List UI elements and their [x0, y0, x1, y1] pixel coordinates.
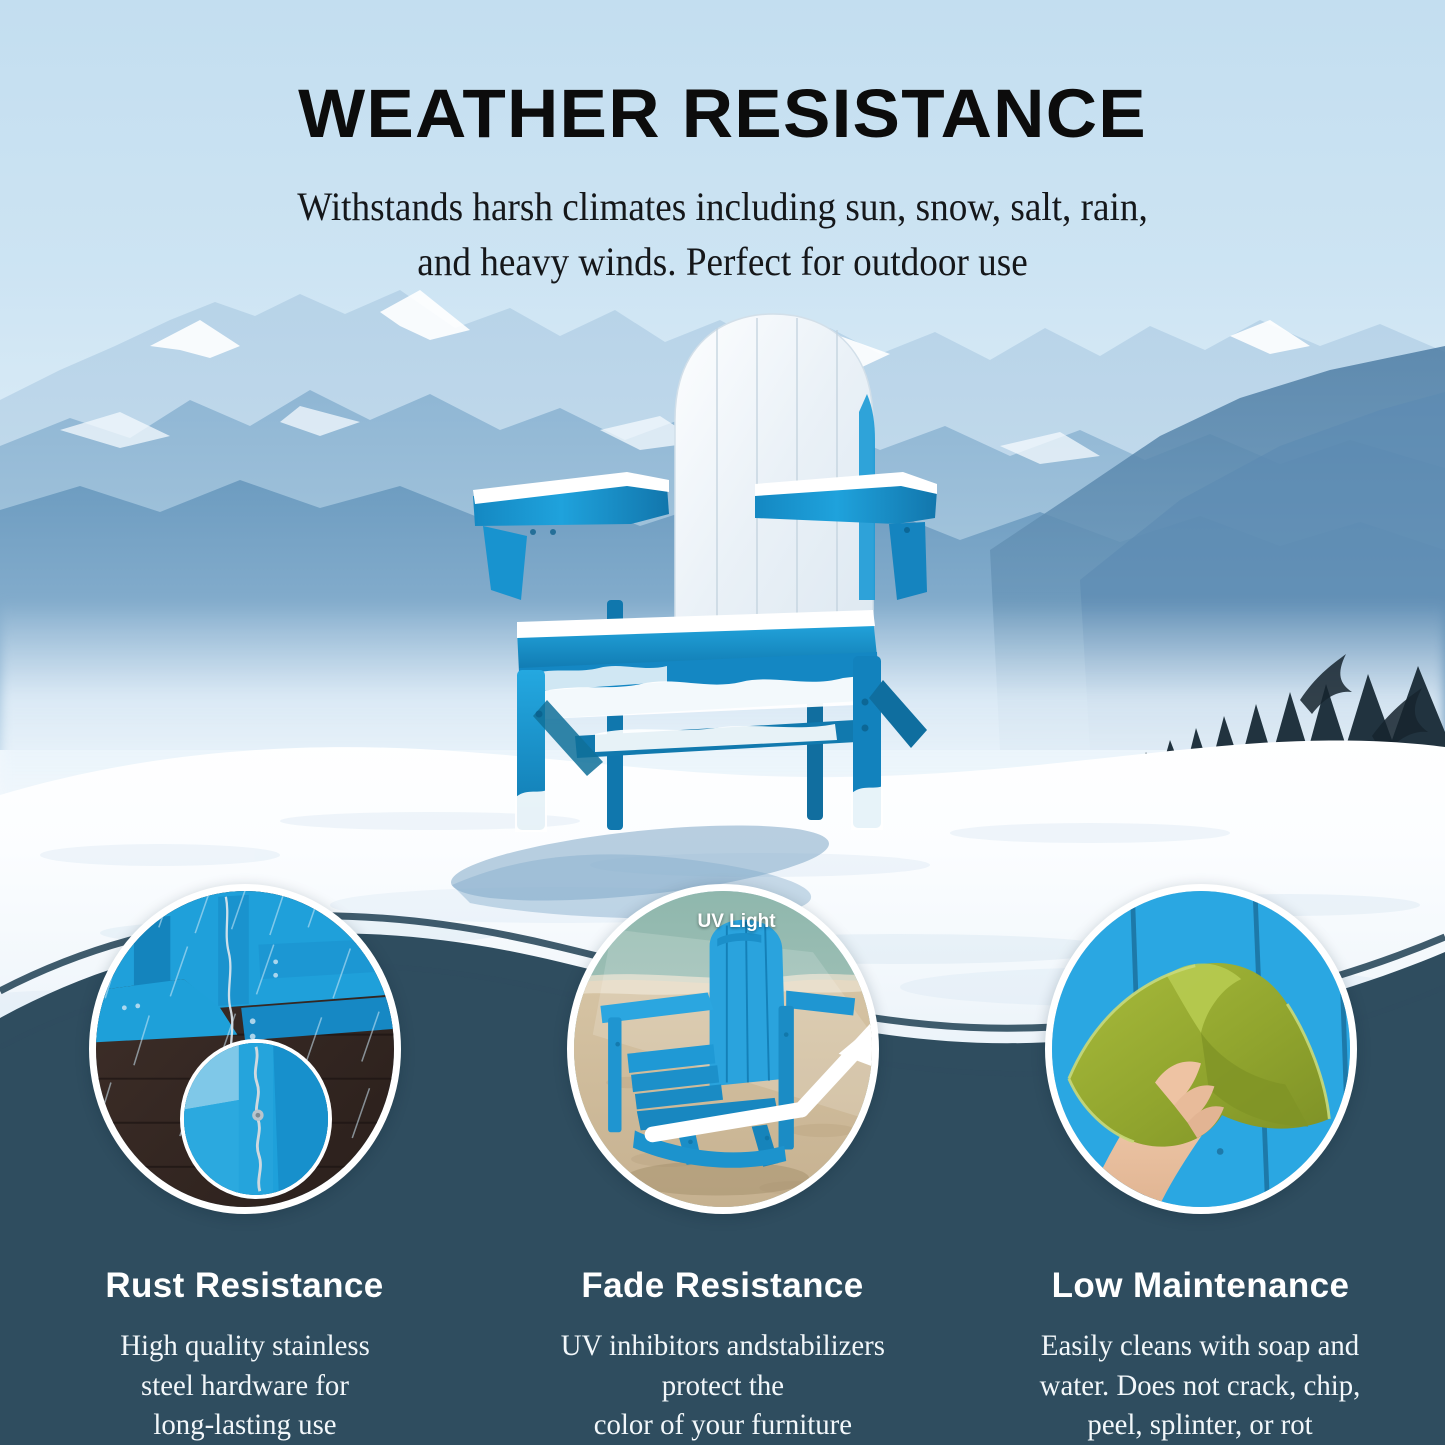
uv-light-label: UV Light	[698, 911, 776, 933]
low-maintenance-photo	[1045, 884, 1357, 1214]
card-desc-low-maintenance: Easily cleans with soap and water. Does …	[1040, 1326, 1361, 1445]
subtitle-line-1: Withstands harsh climates including sun,…	[51, 179, 1395, 234]
card-title-fade: Fade Resistance	[581, 1266, 863, 1306]
stainless-chain-inset	[180, 1039, 332, 1199]
subtitle-line-2: and heavy winds. Perfect for outdoor use	[51, 234, 1395, 289]
header-block: WEATHER RESISTANCE Withstands harsh clim…	[0, 0, 1445, 289]
card-title-rust: Rust Resistance	[105, 1266, 383, 1306]
page-title: WEATHER RESISTANCE	[0, 74, 1445, 153]
hero-chair-image	[455, 300, 955, 860]
feature-cards: Rust Resistance High quality stainless s…	[0, 884, 1445, 1445]
card-desc-fade: UV inhibitors andstabilizers protect the…	[560, 1326, 884, 1445]
page-subtitle: Withstands harsh climates including sun,…	[51, 179, 1395, 289]
fade-resistance-photo: UV Light	[567, 884, 879, 1214]
feature-card-fade-resistance[interactable]: UV Light Fade Resistance UV inhibitors a…	[503, 884, 943, 1445]
feature-card-rust-resistance[interactable]: Rust Resistance High quality stainless s…	[25, 884, 465, 1445]
card-desc-rust: High quality stainless steel hardware fo…	[120, 1326, 370, 1445]
rust-resistance-photo	[89, 884, 401, 1214]
card-title-low-maintenance: Low Maintenance	[1052, 1266, 1350, 1306]
infographic-stage: WEATHER RESISTANCE Withstands harsh clim…	[0, 0, 1445, 1445]
feature-card-low-maintenance[interactable]: Low Maintenance Easily cleans with soap …	[981, 884, 1421, 1445]
uv-light-arrow-icon	[640, 933, 879, 1214]
